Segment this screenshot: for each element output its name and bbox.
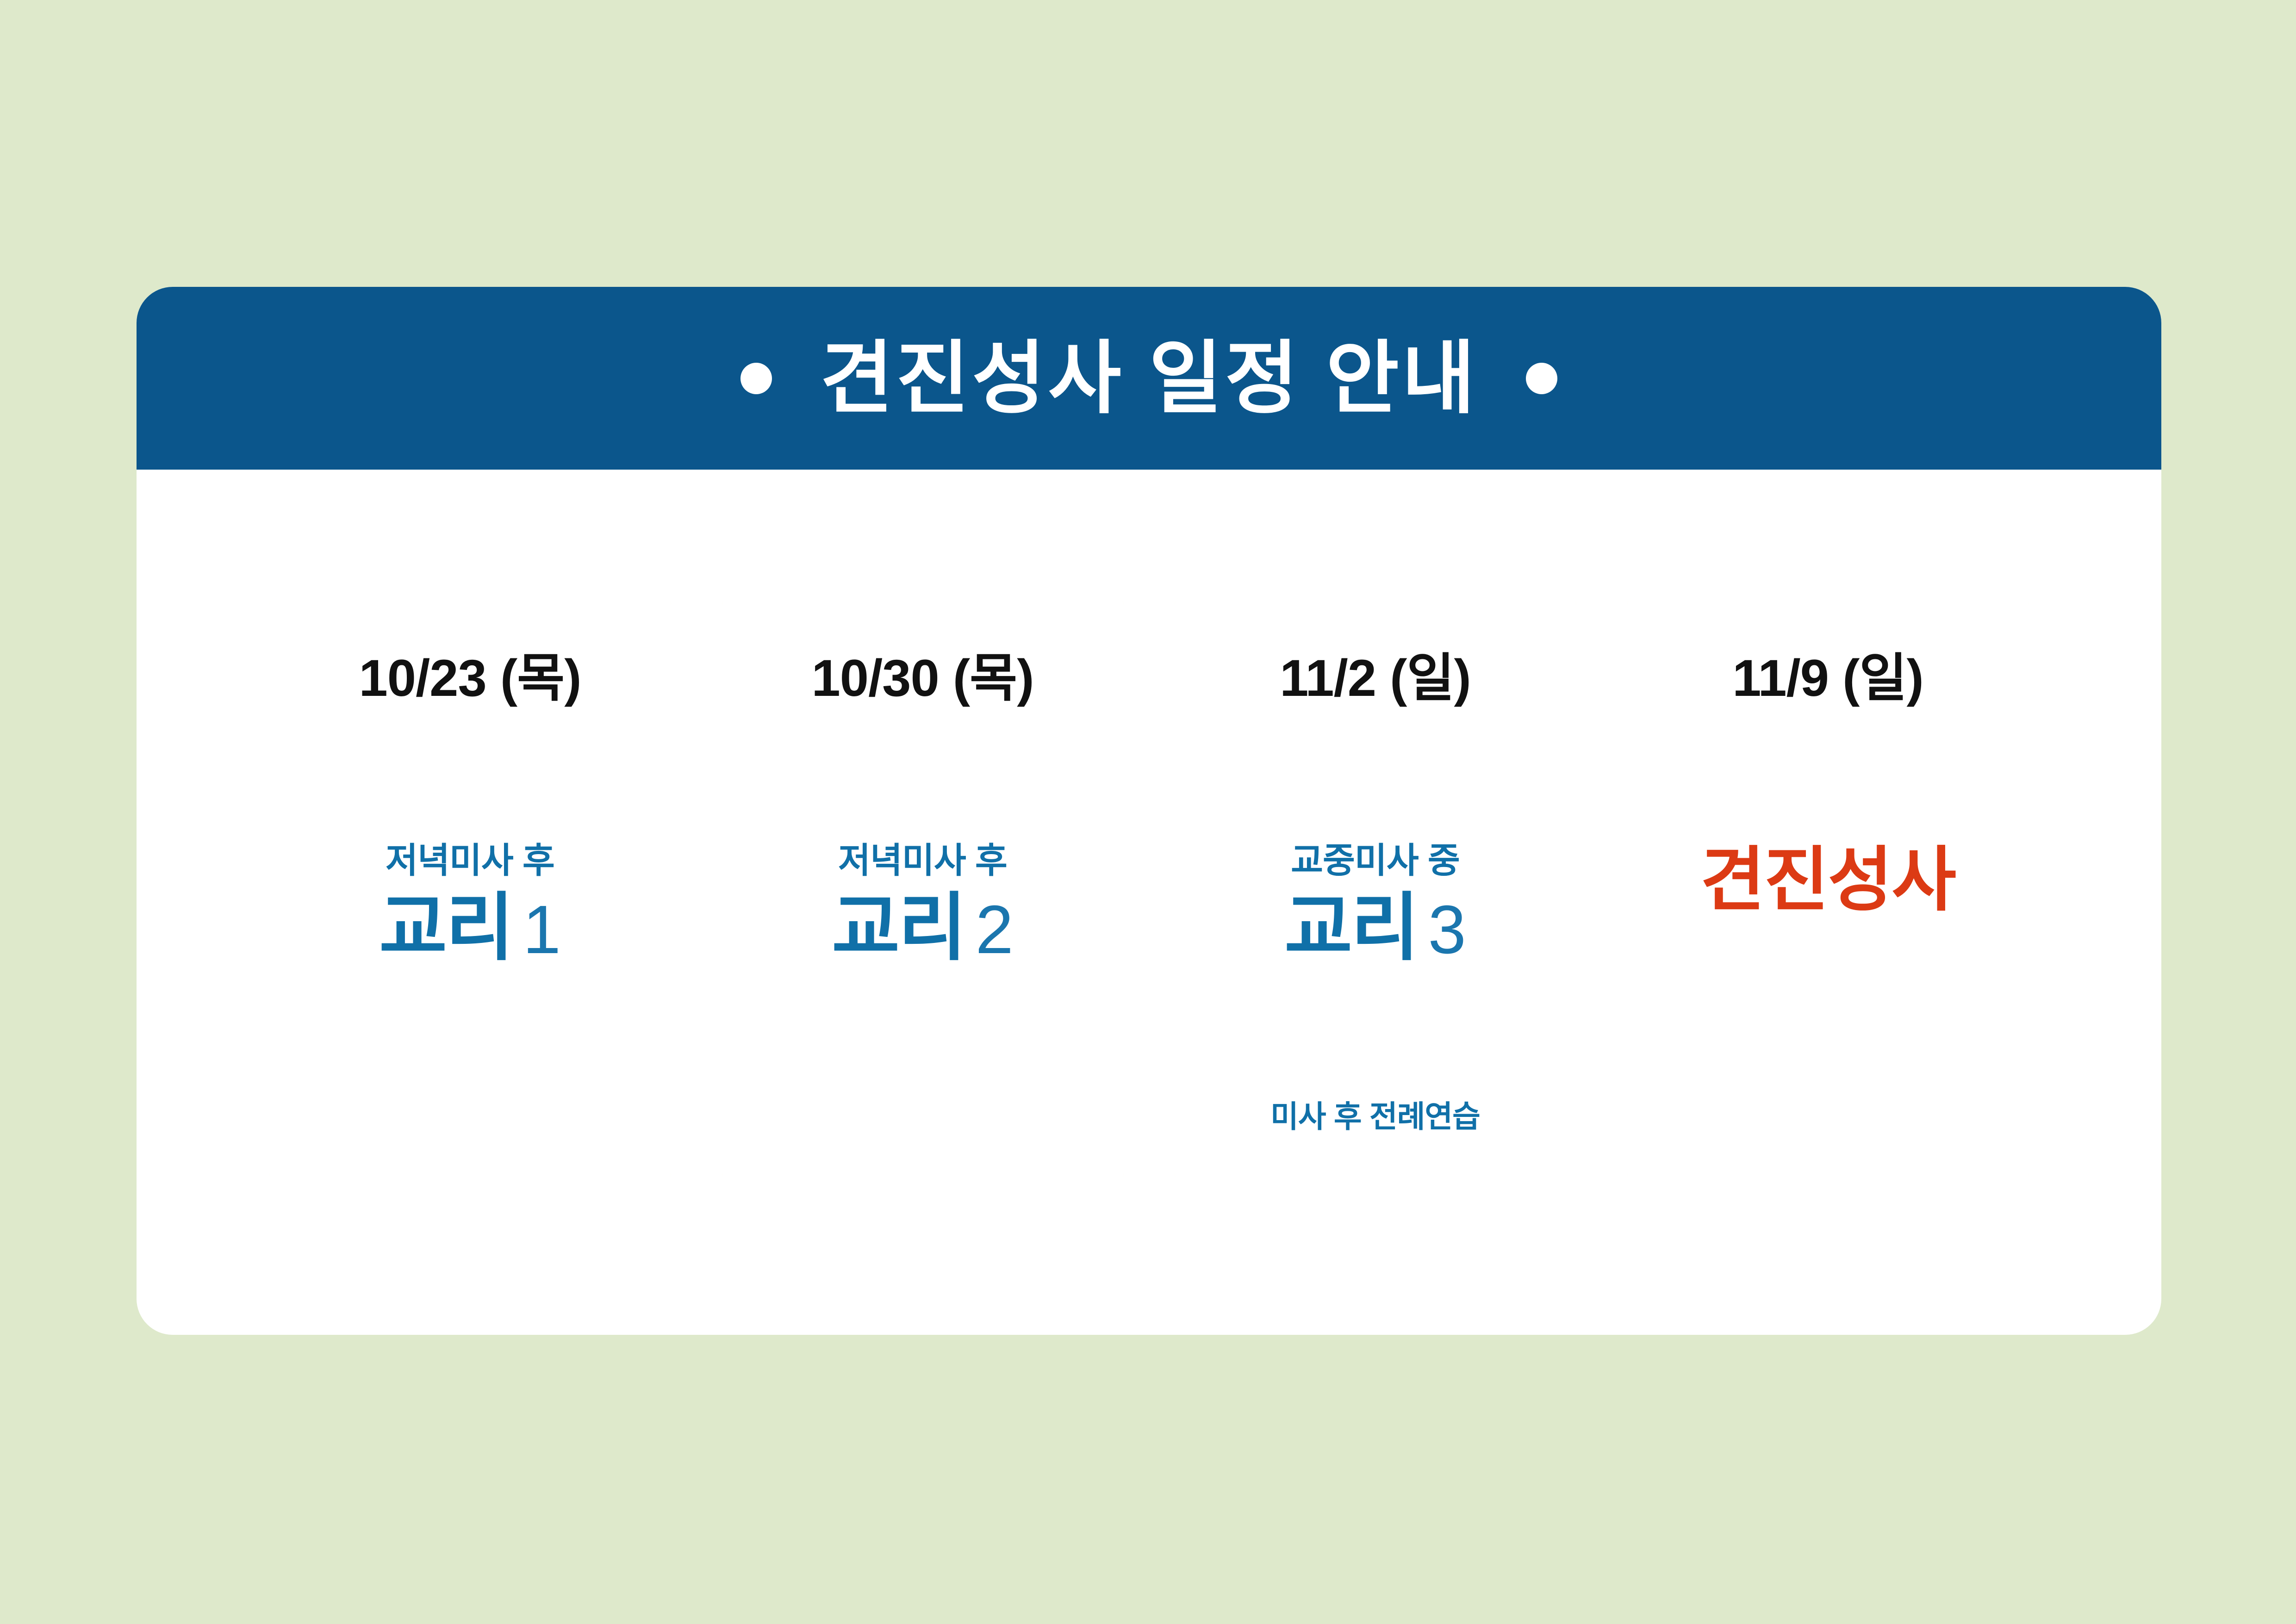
ticket-title-word: 견진성사 <box>1700 843 1955 917</box>
ticket-date: 11/2 (일) <box>1280 652 1471 704</box>
ticket-main: 저녁미사 후교리2 <box>722 760 1124 1182</box>
ticket-title-number: 3 <box>1428 894 1466 966</box>
ticket-content: 11/9 (일)견진성사 <box>1627 596 2029 1182</box>
ticket-title-word: 교리 <box>832 889 965 967</box>
panel-header: 견진성사 일정 안내 <box>137 287 2161 470</box>
ticket-main: 교중미사 중교리3미사 후 전례연습 <box>1175 760 1576 1182</box>
ticket-stub: 10/23 (목) <box>269 596 671 760</box>
bullet-dot-icon-left <box>740 363 772 394</box>
ticket-title: 교리3 <box>1284 889 1466 967</box>
ticket-stub: 11/9 (일) <box>1627 596 2029 760</box>
ticket-subtitle: 저녁미사 후 <box>838 843 1007 879</box>
ticket-content: 10/23 (목)저녁미사 후교리1 <box>269 596 671 1182</box>
ticket-card[interactable]: 11/2 (일)교중미사 중교리3미사 후 전례연습 <box>1175 596 1576 1182</box>
ticket-title: 교리2 <box>832 889 1014 967</box>
ticket-main: 견진성사 <box>1627 760 2029 1182</box>
ticket-title: 교리1 <box>379 889 561 967</box>
ticket-date: 10/30 (목) <box>811 652 1033 704</box>
ticket-title-number: 1 <box>523 894 561 966</box>
poster-panel: 견진성사 일정 안내 10/23 (목)저녁미사 후교리110/30 (목)저녁… <box>137 287 2161 1335</box>
ticket-date: 10/23 (목) <box>359 652 581 704</box>
ticket-title-word: 교리 <box>379 889 512 967</box>
ticket-subtitle: 교중미사 중 <box>1291 843 1460 879</box>
ticket-list: 10/23 (목)저녁미사 후교리110/30 (목)저녁미사 후교리211/2… <box>137 470 2161 1335</box>
ticket-card[interactable]: 10/23 (목)저녁미사 후교리1 <box>269 596 671 1182</box>
ticket-stub: 11/2 (일) <box>1175 596 1576 760</box>
ticket-content: 10/30 (목)저녁미사 후교리2 <box>722 596 1124 1182</box>
ticket-main: 저녁미사 후교리1 <box>269 760 671 1182</box>
ticket-content: 11/2 (일)교중미사 중교리3미사 후 전례연습 <box>1175 596 1576 1182</box>
ticket-date: 11/9 (일) <box>1732 652 1923 704</box>
bullet-dot-icon-right <box>1526 363 1557 394</box>
ticket-card[interactable]: 10/30 (목)저녁미사 후교리2 <box>722 596 1124 1182</box>
ticket-title-word: 교리 <box>1284 889 1418 967</box>
ticket-title-number: 2 <box>976 894 1014 966</box>
page-title: 견진성사 일정 안내 <box>820 339 1478 418</box>
ticket-title: 견진성사 <box>1700 843 1955 917</box>
ticket-footnote: 미사 후 전례연습 <box>1175 1101 1576 1132</box>
ticket-stub: 10/30 (목) <box>722 596 1124 760</box>
ticket-subtitle: 저녁미사 후 <box>386 843 554 879</box>
ticket-card[interactable]: 11/9 (일)견진성사 <box>1627 596 2029 1182</box>
